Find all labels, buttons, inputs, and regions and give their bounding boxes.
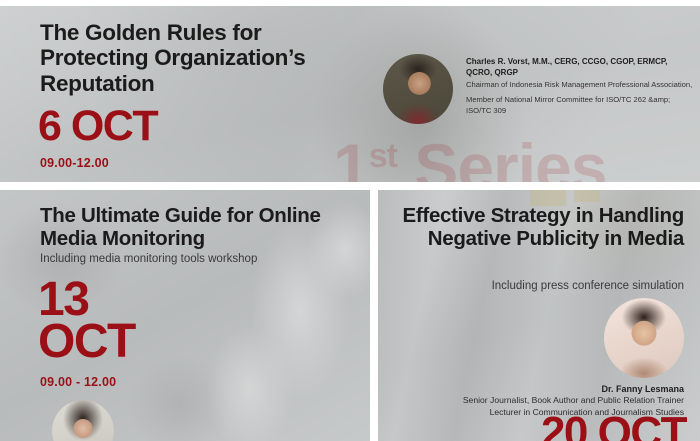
session-3-speaker: Dr. Fanny Lesmana Senior Journalist, Boo…: [463, 298, 684, 418]
session-2-speaker-name: Joanne Tjahyana, S.Kom., MMM: [126, 409, 255, 441]
avatar-charles-vorst: [383, 54, 453, 124]
event-poster: 1st Series The Golden Rules for Protecti…: [0, 0, 700, 441]
session-3-speaker-role-1: Senior Journalist, Book Author and Publi…: [463, 394, 684, 406]
session-2-panel: The Ultimate Guide for Online Media Moni…: [0, 190, 370, 441]
session-3-speaker-name: Dr. Fanny Lesmana: [463, 384, 684, 394]
session-2-time: 09.00 - 12.00: [40, 375, 116, 389]
session-1-panel: 1st Series The Golden Rules for Protecti…: [0, 6, 700, 182]
session-3-date: 20 OCT: [541, 413, 686, 441]
session-2-subtitle: Including media monitoring tools worksho…: [40, 253, 257, 265]
session-1-time: 09.00-12.00: [40, 156, 109, 170]
session-2-speaker: Joanne Tjahyana, S.Kom., MMM: [52, 400, 255, 441]
session-1-title: The Golden Rules for Protecting Organiza…: [40, 20, 370, 96]
session-3-title: Effective Strategy in Handling Negative …: [384, 204, 684, 250]
session-1-speaker-role-2: Member of National Mirror Committee for …: [466, 95, 693, 117]
avatar-fanny-lesmana: [604, 298, 684, 378]
session-1-speaker-text: Charles R. Vorst, M.M., CERG, CCGO, CGOP…: [466, 54, 693, 117]
watermark-label: Series: [414, 130, 606, 182]
session-3-panel: 3rd Effective Strategy in Handling Negat…: [378, 190, 700, 441]
session-1-speaker-role-1: Chairman of Indonesia Risk Management Pr…: [466, 80, 693, 91]
session-1-speaker: Charles R. Vorst, M.M., CERG, CCGO, CGOP…: [383, 54, 693, 124]
session-3-subtitle: Including press conference simulation: [384, 280, 684, 292]
session-2-date-month: OCT: [38, 320, 135, 364]
series-watermark-1st: 1st Series: [333, 134, 606, 182]
watermark-suffix: st: [369, 137, 397, 175]
avatar-joanne-tjahyana: [52, 400, 114, 441]
session-2-title: The Ultimate Guide for Online Media Moni…: [40, 204, 350, 250]
session-1-speaker-name: Charles R. Vorst, M.M., CERG, CCGO, CGOP…: [466, 56, 693, 78]
session-1-date: 6 OCT: [38, 107, 157, 147]
watermark-number: 1: [333, 130, 369, 182]
